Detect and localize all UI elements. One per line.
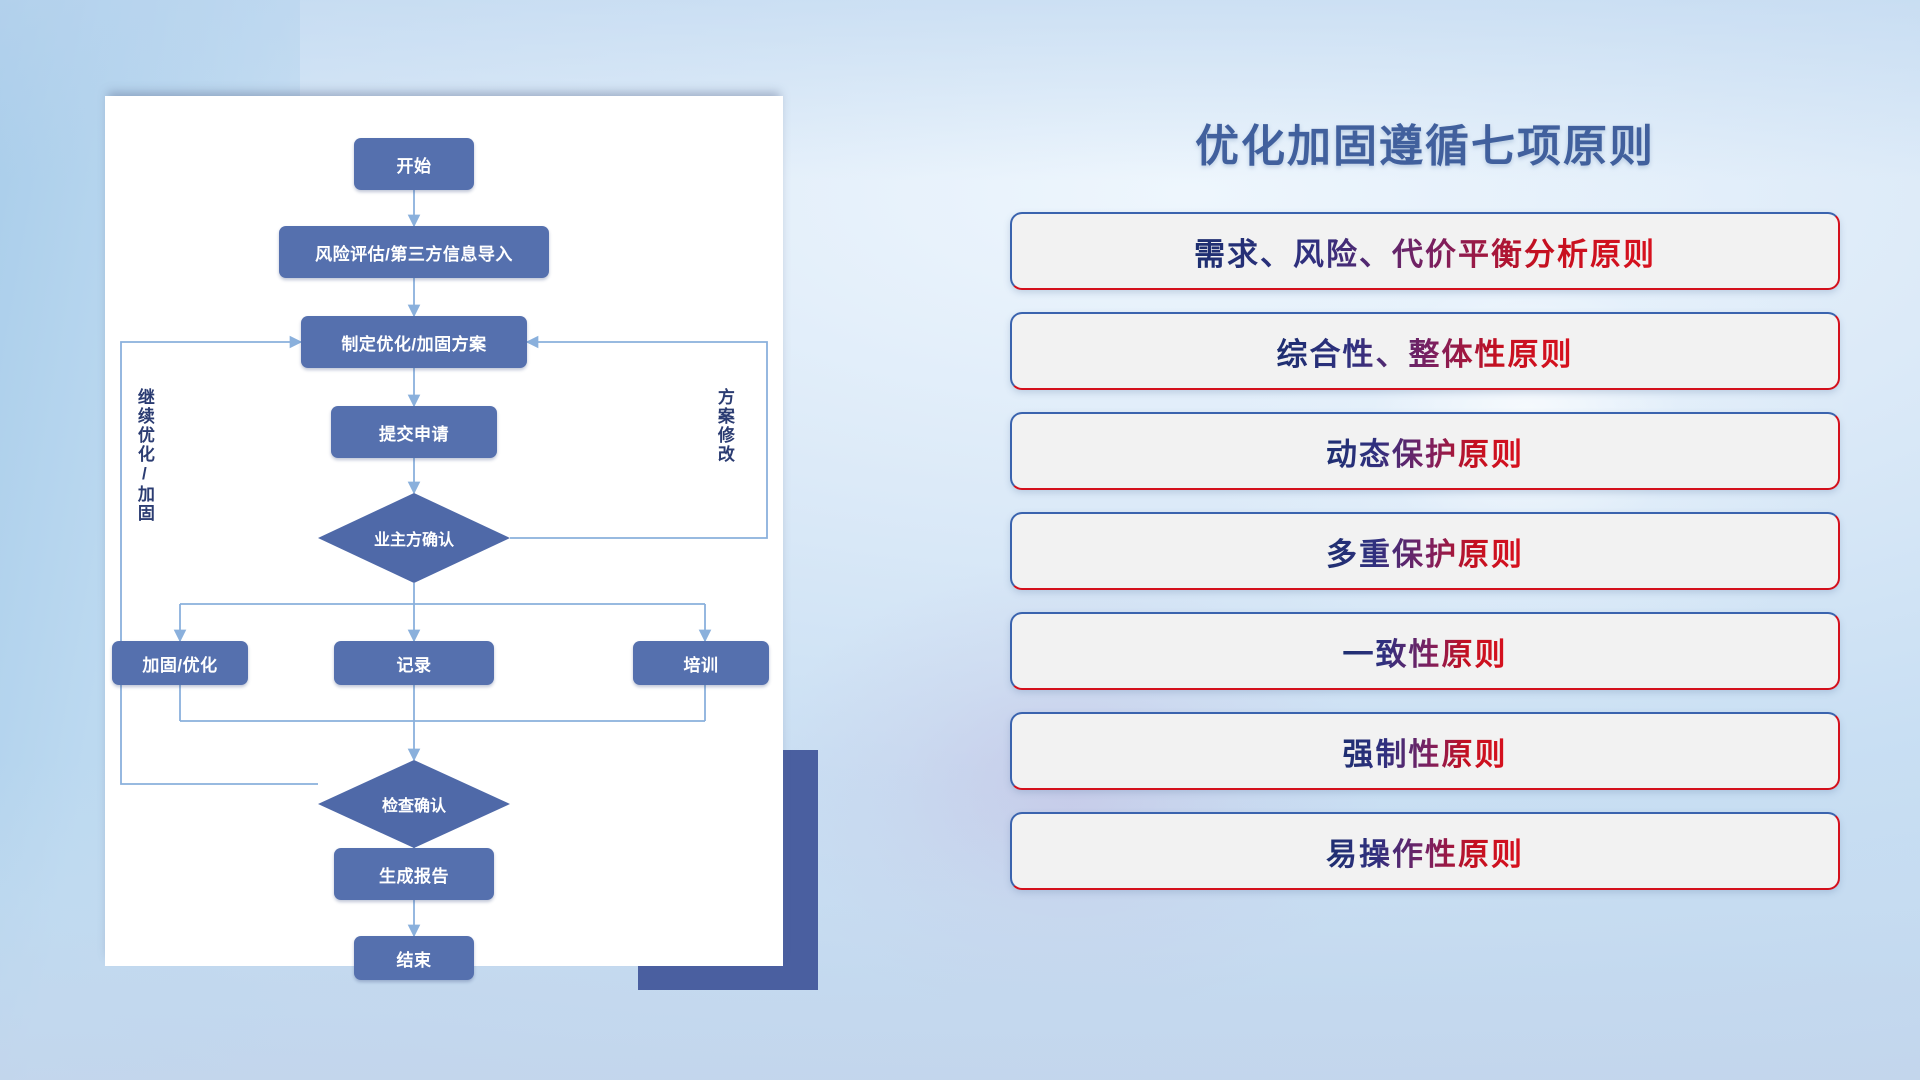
flow-node-risk-assessment[interactable]: 风险评估/第三方信息导入 [279,226,549,278]
flow-node-record[interactable]: 记录 [334,641,494,685]
principle-card-3[interactable]: 动态保护原则 [1010,412,1840,490]
flowchart-card: 开始 风险评估/第三方信息导入 制定优化/加固方案 提交申请 业主方确认 加固/… [105,96,783,966]
principle-card-6[interactable]: 强制性原则 [1010,712,1840,790]
flow-node-training-label: 培训 [684,651,719,676]
page-title: 优化加固遵循七项原则 [1010,110,1840,174]
flow-node-submit[interactable]: 提交申请 [331,406,497,458]
flow-node-risk-assessment-label: 风险评估/第三方信息导入 [315,240,513,265]
flow-node-end-label: 结束 [397,946,432,971]
flow-node-report-label: 生成报告 [379,862,449,887]
flow-node-end[interactable]: 结束 [354,936,474,980]
flow-node-report[interactable]: 生成报告 [334,848,494,900]
principle-card-7[interactable]: 易操作性原则 [1010,812,1840,890]
flowchart-canvas: 开始 风险评估/第三方信息导入 制定优化/加固方案 提交申请 业主方确认 加固/… [105,96,783,966]
principle-card-1[interactable]: 需求、风险、代价平衡分析原则 [1010,212,1840,290]
principle-label-1: 需求、风险、代价平衡分析原则 [1194,229,1656,274]
flow-node-start[interactable]: 开始 [354,138,474,190]
flow-node-record-label: 记录 [397,651,432,676]
principles-panel: 优化加固遵循七项原则 需求、风险、代价平衡分析原则 综合性、整体性原则 动态保护… [1010,96,1840,996]
flow-decision-owner-confirm-label: 业主方确认 [374,526,454,550]
principle-label-7: 易操作性原则 [1326,829,1524,874]
principle-card-4[interactable]: 多重保护原则 [1010,512,1840,590]
flow-node-plan[interactable]: 制定优化/加固方案 [301,316,527,368]
flow-node-reinforce[interactable]: 加固/优化 [112,641,248,685]
principle-label-3: 动态保护原则 [1326,429,1524,474]
flow-node-start-label: 开始 [397,152,432,177]
principle-label-6: 强制性原则 [1343,729,1508,774]
flow-node-submit-label: 提交申请 [379,420,449,445]
flow-edge-label-right-loop: 方案修改 [715,388,733,464]
principle-card-5[interactable]: 一致性原则 [1010,612,1840,690]
flow-node-reinforce-label: 加固/优化 [142,651,217,676]
principles-list: 需求、风险、代价平衡分析原则 综合性、整体性原则 动态保护原则 多重保护原则 一… [1010,212,1840,890]
principle-label-4: 多重保护原则 [1326,529,1524,574]
flow-edge-label-left-loop: 继续优化/加固 [135,388,153,523]
principle-label-5: 一致性原则 [1343,629,1508,674]
flow-decision-check-confirm-label: 检查确认 [382,792,446,816]
principle-label-2: 综合性、整体性原则 [1277,329,1574,374]
flow-node-plan-label: 制定优化/加固方案 [341,330,486,355]
principle-card-2[interactable]: 综合性、整体性原则 [1010,312,1840,390]
flow-node-training[interactable]: 培训 [633,641,769,685]
